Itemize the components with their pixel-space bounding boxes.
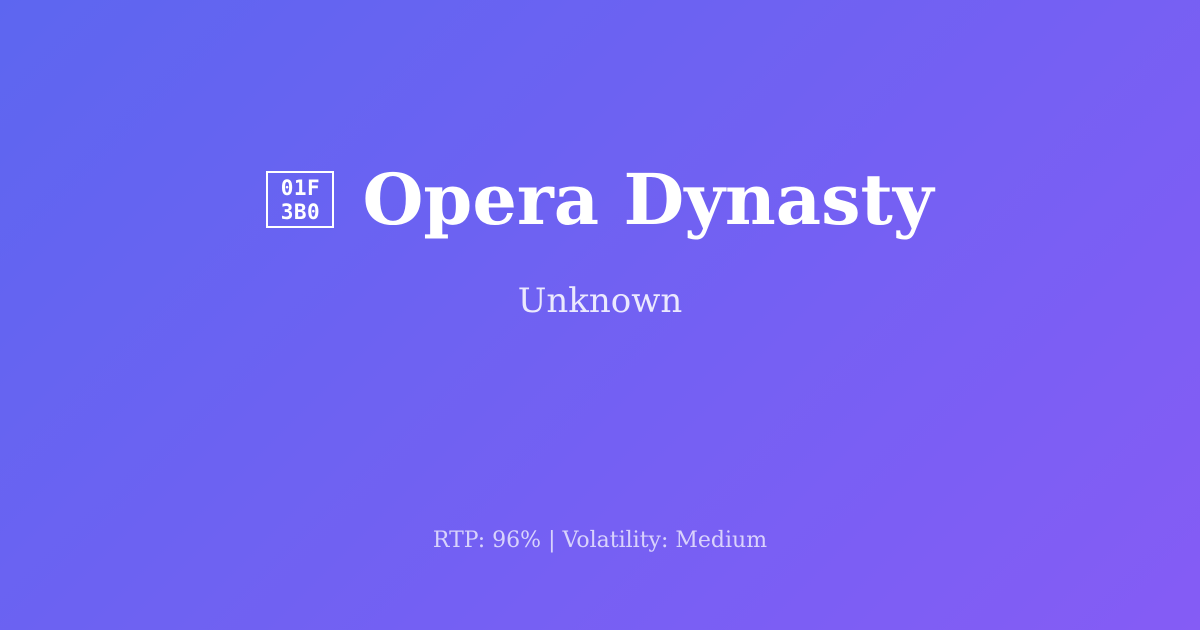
subtitle: Unknown <box>518 281 683 322</box>
page-title: Opera Dynasty <box>362 163 933 237</box>
og-share-card: 01F 3B0 Opera Dynasty Unknown RTP: 96% |… <box>0 0 1200 630</box>
card-center-stack: 01F 3B0 Opera Dynasty Unknown <box>0 0 1200 484</box>
tofu-codepoint-top: 01F <box>281 176 320 200</box>
tofu-codepoint-bottom: 3B0 <box>281 200 320 224</box>
game-stats-footer: RTP: 96% | Volatility: Medium <box>0 527 1200 556</box>
title-row: 01F 3B0 Opera Dynasty <box>60 163 1140 237</box>
slot-machine-icon: 01F 3B0 <box>266 171 334 228</box>
